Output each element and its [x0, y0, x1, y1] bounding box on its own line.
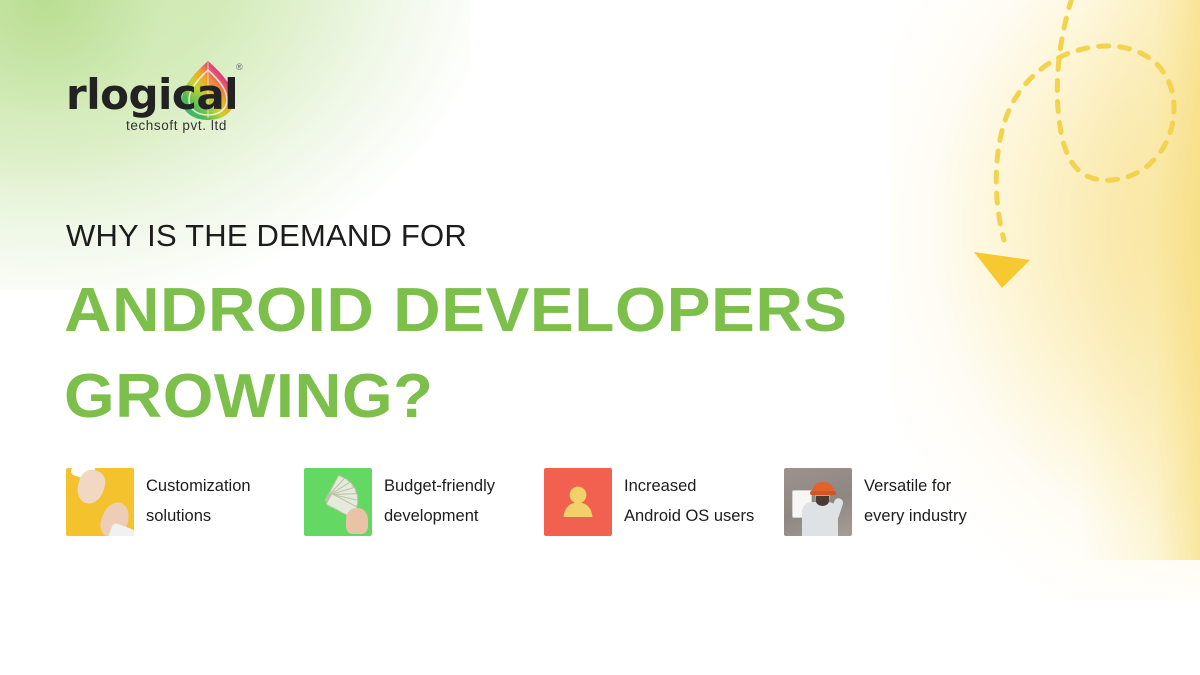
feature-label: Increased Android OS users — [624, 468, 754, 531]
headline-line-1: ANDROID DEVELOPERS — [64, 268, 1124, 354]
feature-list: Customization solutions Budget-friendly — [66, 468, 1126, 548]
feature-label-line-2: development — [384, 501, 495, 531]
feature-item-customization[interactable]: Customization solutions — [66, 468, 251, 536]
logo-tagline: techsoft pvt. ltd — [126, 118, 227, 133]
dashed-loop-arrow-icon — [962, 0, 1200, 296]
headline-line-2: GROWING? — [64, 354, 1114, 440]
logo-wordmark: rlogical — [66, 74, 238, 116]
worker-with-tablet-photo-icon — [784, 468, 852, 536]
handshake-reaching-hands-photo-icon — [66, 468, 134, 536]
feature-label-line-1: Customization — [146, 471, 251, 501]
feature-label: Versatile for every industry — [864, 468, 967, 531]
brand-logo[interactable]: rlogical ® techsoft pvt. ltd — [64, 58, 304, 144]
feature-label: Budget-friendly development — [384, 468, 495, 531]
cash-fan-money-photo-icon — [304, 468, 372, 536]
headline-kicker: WHY IS THE DEMAND FOR — [66, 219, 467, 253]
feature-label-line-2: solutions — [146, 501, 251, 531]
feature-item-versatile[interactable]: Versatile for every industry — [784, 468, 967, 536]
feature-item-users[interactable]: Increased Android OS users — [544, 468, 754, 536]
trademark-symbol: ® — [236, 62, 243, 72]
feature-item-budget[interactable]: Budget-friendly development — [304, 468, 495, 536]
feature-label-line-1: Versatile for — [864, 471, 967, 501]
feature-label-line-2: every industry — [864, 501, 967, 531]
user-avatar-icon — [544, 468, 612, 536]
page-title: ANDROID DEVELOPERS GROWING? — [64, 268, 1064, 440]
feature-label: Customization solutions — [146, 468, 251, 531]
banner-canvas: rlogical ® techsoft pvt. ltd WHY IS THE … — [0, 0, 1200, 675]
feature-label-line-1: Budget-friendly — [384, 471, 495, 501]
feature-label-line-1: Increased — [624, 471, 754, 501]
feature-label-line-2: Android OS users — [624, 501, 754, 531]
